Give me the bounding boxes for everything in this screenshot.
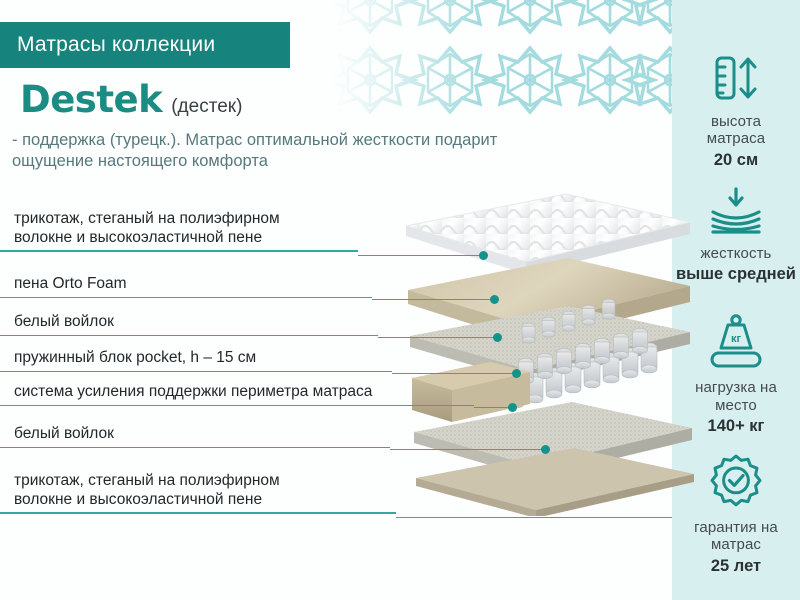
layer-leader-6	[390, 449, 545, 451]
layer-label-6: белый войлок	[0, 425, 390, 447]
collection-banner: Матрасы коллекции	[0, 22, 290, 68]
layer-rule-2	[0, 297, 372, 299]
weight-load-icon: кг	[704, 312, 768, 370]
spec-height: высота матраса 20 см	[672, 52, 800, 170]
layer-label-3: белый войлок	[0, 313, 378, 335]
layer-callout-4: пружинный блок pocket, h – 15 см	[0, 349, 392, 372]
layer-leader-7	[396, 517, 672, 519]
brand-tagline: - поддержка (турецк.). Матрас оптимально…	[12, 130, 557, 172]
layer-dot-3	[493, 333, 502, 342]
layer-rule-3	[0, 335, 378, 337]
spec-load-value: 140+ кг	[708, 417, 765, 436]
layer-rule-1	[0, 250, 358, 252]
layer-label-4: пружинный блок pocket, h – 15 см	[0, 349, 392, 371]
brand-name: Destek	[20, 78, 162, 121]
ornament-pattern-icon	[330, 0, 710, 150]
layer-label-5: система усиления поддержки периметра мат…	[0, 383, 474, 405]
layer-callout-1: трикотаж, стеганый на полиэфирном волокн…	[0, 210, 358, 252]
layer-label-1: трикотаж, стеганый на полиэфирном волокн…	[0, 210, 358, 250]
spec-load-title: нагрузка на место	[695, 379, 777, 414]
layer-dot-6	[541, 445, 550, 454]
layer-dot-5	[508, 403, 517, 412]
layer-dot-1	[479, 251, 488, 260]
brand-block: Destek(дестек)	[20, 78, 242, 121]
layer-rule-4	[0, 371, 392, 373]
layer-leader-3	[378, 337, 497, 339]
spec-firmness-title: жесткость	[701, 245, 772, 262]
layer-dot-4	[512, 369, 521, 378]
layer-dot-2	[490, 295, 499, 304]
layer-leader-5	[474, 407, 512, 409]
layer-leader-2	[372, 299, 494, 301]
warranty-badge-icon	[707, 454, 765, 510]
layer-rule-5	[0, 405, 474, 407]
weight-badge-label: кг	[731, 333, 742, 345]
layer-callout-6: белый войлок	[0, 425, 390, 448]
layer-callout-3: белый войлок	[0, 313, 378, 336]
layer-callout-7: трикотаж, стеганый на полиэфирном волокн…	[0, 472, 396, 514]
mattress-layers-illustration	[398, 186, 698, 516]
layer-callout-5: система усиления поддержки периметра мат…	[0, 383, 474, 406]
layer-label-7: трикотаж, стеганый на полиэфирном волокн…	[0, 472, 396, 512]
spec-warranty-value: 25 лет	[711, 557, 761, 576]
brand-translit: (дестек)	[171, 96, 242, 117]
layer-leader-1	[358, 255, 483, 257]
banner-title: Матрасы коллекции	[0, 33, 215, 57]
spec-warranty-title: гарантия на матрас	[694, 519, 778, 554]
ruler-height-icon	[708, 52, 764, 104]
layer-bottom-knit	[416, 448, 694, 516]
layer-label-2: пена Orto Foam	[0, 275, 372, 297]
infographic-canvas: Матрасы коллекции Destek(дестек) - подде…	[0, 0, 800, 600]
spec-height-value: 20 см	[714, 151, 758, 170]
layer-leader-4	[392, 373, 516, 375]
firmness-waves-icon	[705, 186, 767, 236]
layer-rule-6	[0, 447, 390, 449]
spec-height-title: высота матраса	[707, 113, 765, 148]
layer-callout-2: пена Orto Foam	[0, 275, 372, 298]
layer-rule-7	[0, 512, 396, 514]
